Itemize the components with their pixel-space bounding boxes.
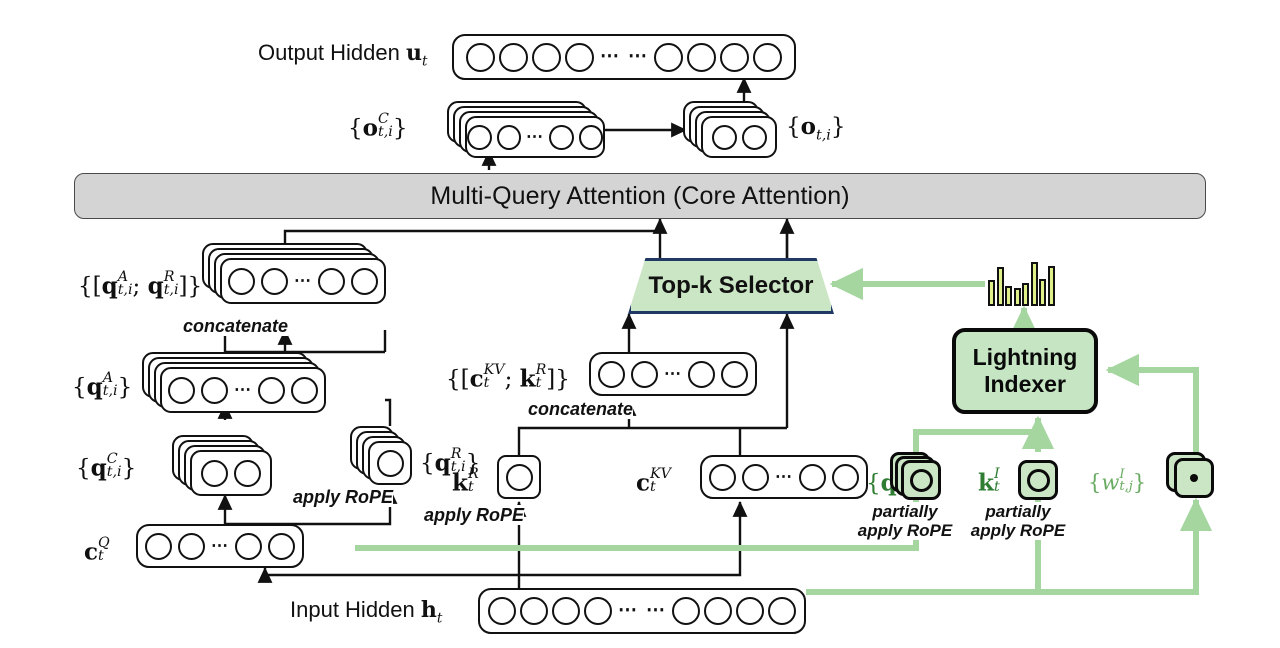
vector-cell <box>552 597 580 625</box>
vector-cell <box>654 43 683 72</box>
lightning-indexer-line2: Indexer <box>984 371 1066 398</box>
c-kv-kr-label: {[cKVt; kRt]} <box>446 363 570 392</box>
vector-cell <box>565 43 594 72</box>
output-hidden-label: Output Hidden o ut <box>258 40 427 66</box>
vector-cell <box>268 533 295 560</box>
k-i-box <box>1018 456 1064 502</box>
w-i-label: {wIt,j} <box>1088 468 1146 493</box>
vector-cell <box>688 361 715 388</box>
vector-cell <box>799 464 826 491</box>
vector-cell <box>1027 469 1050 492</box>
vector-cell <box>721 361 748 388</box>
ellipsis: ⋯ <box>294 278 312 285</box>
vector-cell <box>712 125 737 150</box>
k-r-box <box>497 455 541 499</box>
concatenate-label-mid: concatenate <box>528 399 633 419</box>
vector-cell <box>499 43 528 72</box>
vector-cell <box>234 460 261 487</box>
vector-cell <box>598 361 625 388</box>
ellipsis: ⋯ <box>526 134 544 141</box>
concatenate-label-left: concatenate <box>183 316 288 336</box>
histogram-bar <box>988 280 995 306</box>
histogram-bar <box>997 267 1004 306</box>
vector-cell <box>584 597 612 625</box>
vector-cell <box>532 43 561 72</box>
q-ar-stack: ⋯ <box>202 243 390 305</box>
ellipsis: ⋯ <box>646 607 666 615</box>
ellipsis: ⋯ <box>775 474 793 481</box>
vector-cell <box>520 597 548 625</box>
vector-cell <box>704 597 732 625</box>
top-k-selector-label: Top-k Selector <box>649 272 814 300</box>
histogram-bar <box>1005 286 1012 306</box>
k-i-label: kIt <box>978 467 1000 496</box>
vector-cell <box>910 469 933 492</box>
vector-cell <box>145 533 172 560</box>
vector-cell <box>488 597 516 625</box>
vector-cell <box>687 43 716 72</box>
vector-cell <box>549 125 574 150</box>
vector-cell <box>467 125 492 150</box>
histogram-bar <box>1014 288 1021 306</box>
partially-apply-rope-label-k: partially apply RoPE <box>965 502 1071 540</box>
multi-query-attention-bar: Multi-Query Attention (Core Attention) <box>74 173 1206 219</box>
apply-rope-label-k: apply RoPE <box>424 505 524 525</box>
w-i-stack <box>1166 452 1224 504</box>
o-c-label: {oCt,i} <box>348 112 407 141</box>
vector-cell <box>742 125 767 150</box>
mqa-label: Multi-Query Attention (Core Attention) <box>430 182 849 211</box>
vector-cell <box>579 125 604 150</box>
o-label: {ot,i} <box>786 115 845 139</box>
q-c-label: {qCt,i} <box>76 452 136 481</box>
vector-cell <box>672 597 700 625</box>
lightning-indexer-line1: Lightning <box>973 344 1078 371</box>
ellipsis: ⋯ <box>211 543 229 550</box>
ellipsis: ⋯ <box>600 53 620 61</box>
apply-rope-label-q: apply RoPE <box>293 487 393 507</box>
o-c-stack: ⋯ <box>447 101 609 157</box>
vector-cell <box>506 464 533 491</box>
q-c-stack <box>172 435 302 497</box>
c-kv-kr-vector: ⋯ <box>589 352 757 396</box>
vector-cell <box>351 268 378 295</box>
q-ar-label: {[qAt,i; qRt,i]} <box>78 270 202 299</box>
vector-cell <box>709 464 736 491</box>
vector-cell <box>466 43 495 72</box>
vector-cell <box>261 268 288 295</box>
histogram-bar <box>1031 262 1038 306</box>
q-a-stack: ⋯ <box>142 352 330 414</box>
vector-cell <box>832 464 859 491</box>
vector-cell <box>377 450 404 477</box>
input-hidden-vector: ⋯ ⋯ <box>478 588 806 634</box>
vector-cell <box>201 377 228 404</box>
vector-cell <box>736 597 764 625</box>
ellipsis: ⋯ <box>628 53 648 61</box>
c-q-label: cQt <box>84 536 110 565</box>
vector-cell <box>228 268 255 295</box>
histogram-bar <box>1039 279 1046 306</box>
scalar-dot <box>1190 474 1198 482</box>
vector-cell <box>742 464 769 491</box>
vector-cell <box>768 597 796 625</box>
input-hidden-label: Input Hidden ht <box>290 597 442 623</box>
vector-cell <box>631 361 658 388</box>
vector-cell <box>720 43 749 72</box>
index-score-histogram-icon <box>987 258 1061 306</box>
q-i-stack <box>890 452 952 504</box>
vector-cell <box>497 125 522 150</box>
histogram-bar <box>1048 266 1055 306</box>
histogram-bar <box>1022 283 1029 306</box>
c-kv-label: cKVt <box>636 467 671 496</box>
vector-cell <box>235 533 262 560</box>
vector-cell <box>318 268 345 295</box>
lightning-indexer[interactable]: Lightning Indexer <box>952 328 1098 414</box>
o-stack <box>683 101 793 157</box>
output-hidden-vector: ⋯ ⋯ <box>452 34 796 80</box>
partially-apply-rope-label-q: partially apply RoPE <box>852 502 958 540</box>
q-a-label: {qAt,i} <box>72 371 132 400</box>
ellipsis: ⋯ <box>664 371 682 378</box>
vector-cell <box>753 43 782 72</box>
vector-cell <box>178 533 205 560</box>
vector-cell <box>291 377 318 404</box>
c-q-vector: ⋯ <box>136 524 304 568</box>
top-k-selector[interactable]: Top-k Selector <box>628 258 834 314</box>
ellipsis: ⋯ <box>234 387 252 394</box>
vector-cell <box>258 377 285 404</box>
ellipsis: ⋯ <box>618 607 638 615</box>
vector-cell <box>201 460 228 487</box>
vector-cell <box>168 377 195 404</box>
c-kv-vector: ⋯ <box>700 455 868 499</box>
k-r-label: kRt <box>452 467 479 496</box>
